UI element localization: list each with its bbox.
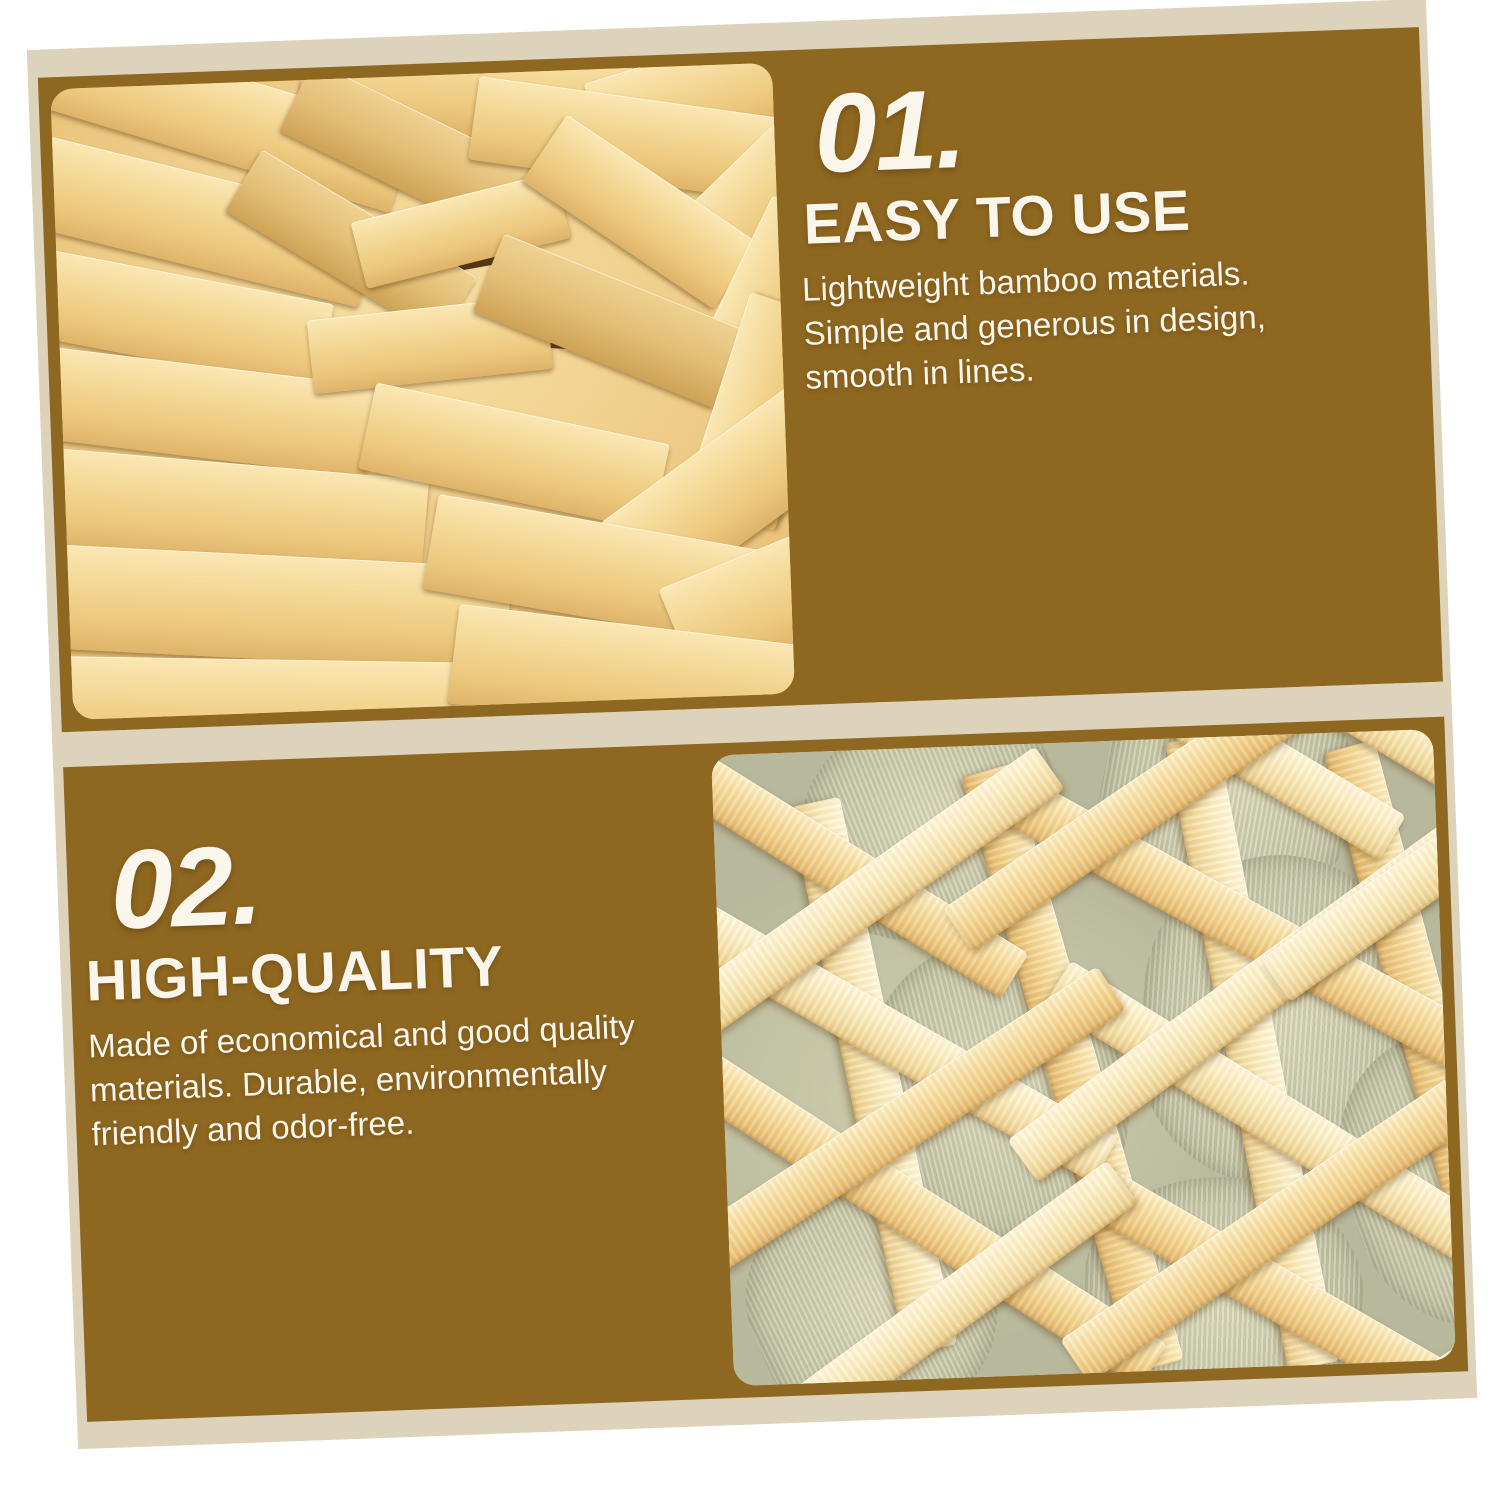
bamboo-lattice-photo-02 bbox=[711, 729, 1456, 1386]
feature-number-02: 02. bbox=[81, 815, 685, 947]
bamboo-weave-photo-01 bbox=[50, 63, 795, 720]
infographic-card: 01. EASY TO USE Lightweight bamboo mater… bbox=[27, 0, 1477, 1449]
feature-body-01: Lightweight bamboo materials. Simple and… bbox=[797, 245, 1416, 399]
feature-panel-01: 01. EASY TO USE Lightweight bamboo mater… bbox=[38, 27, 1443, 732]
feature-body-02: Made of economical and good quality mate… bbox=[88, 1002, 692, 1156]
weave-texture bbox=[50, 63, 795, 720]
feature-text-01: 01. EASY TO USE Lightweight bamboo mater… bbox=[790, 58, 1427, 680]
feature-number-01: 01. bbox=[790, 58, 1409, 190]
feature-panel-02: 02. HIGH-QUALITY Made of economical and … bbox=[63, 717, 1468, 1422]
lattice-texture bbox=[711, 729, 1456, 1386]
feature-text-02: 02. HIGH-QUALITY Made of economical and … bbox=[81, 815, 701, 1397]
